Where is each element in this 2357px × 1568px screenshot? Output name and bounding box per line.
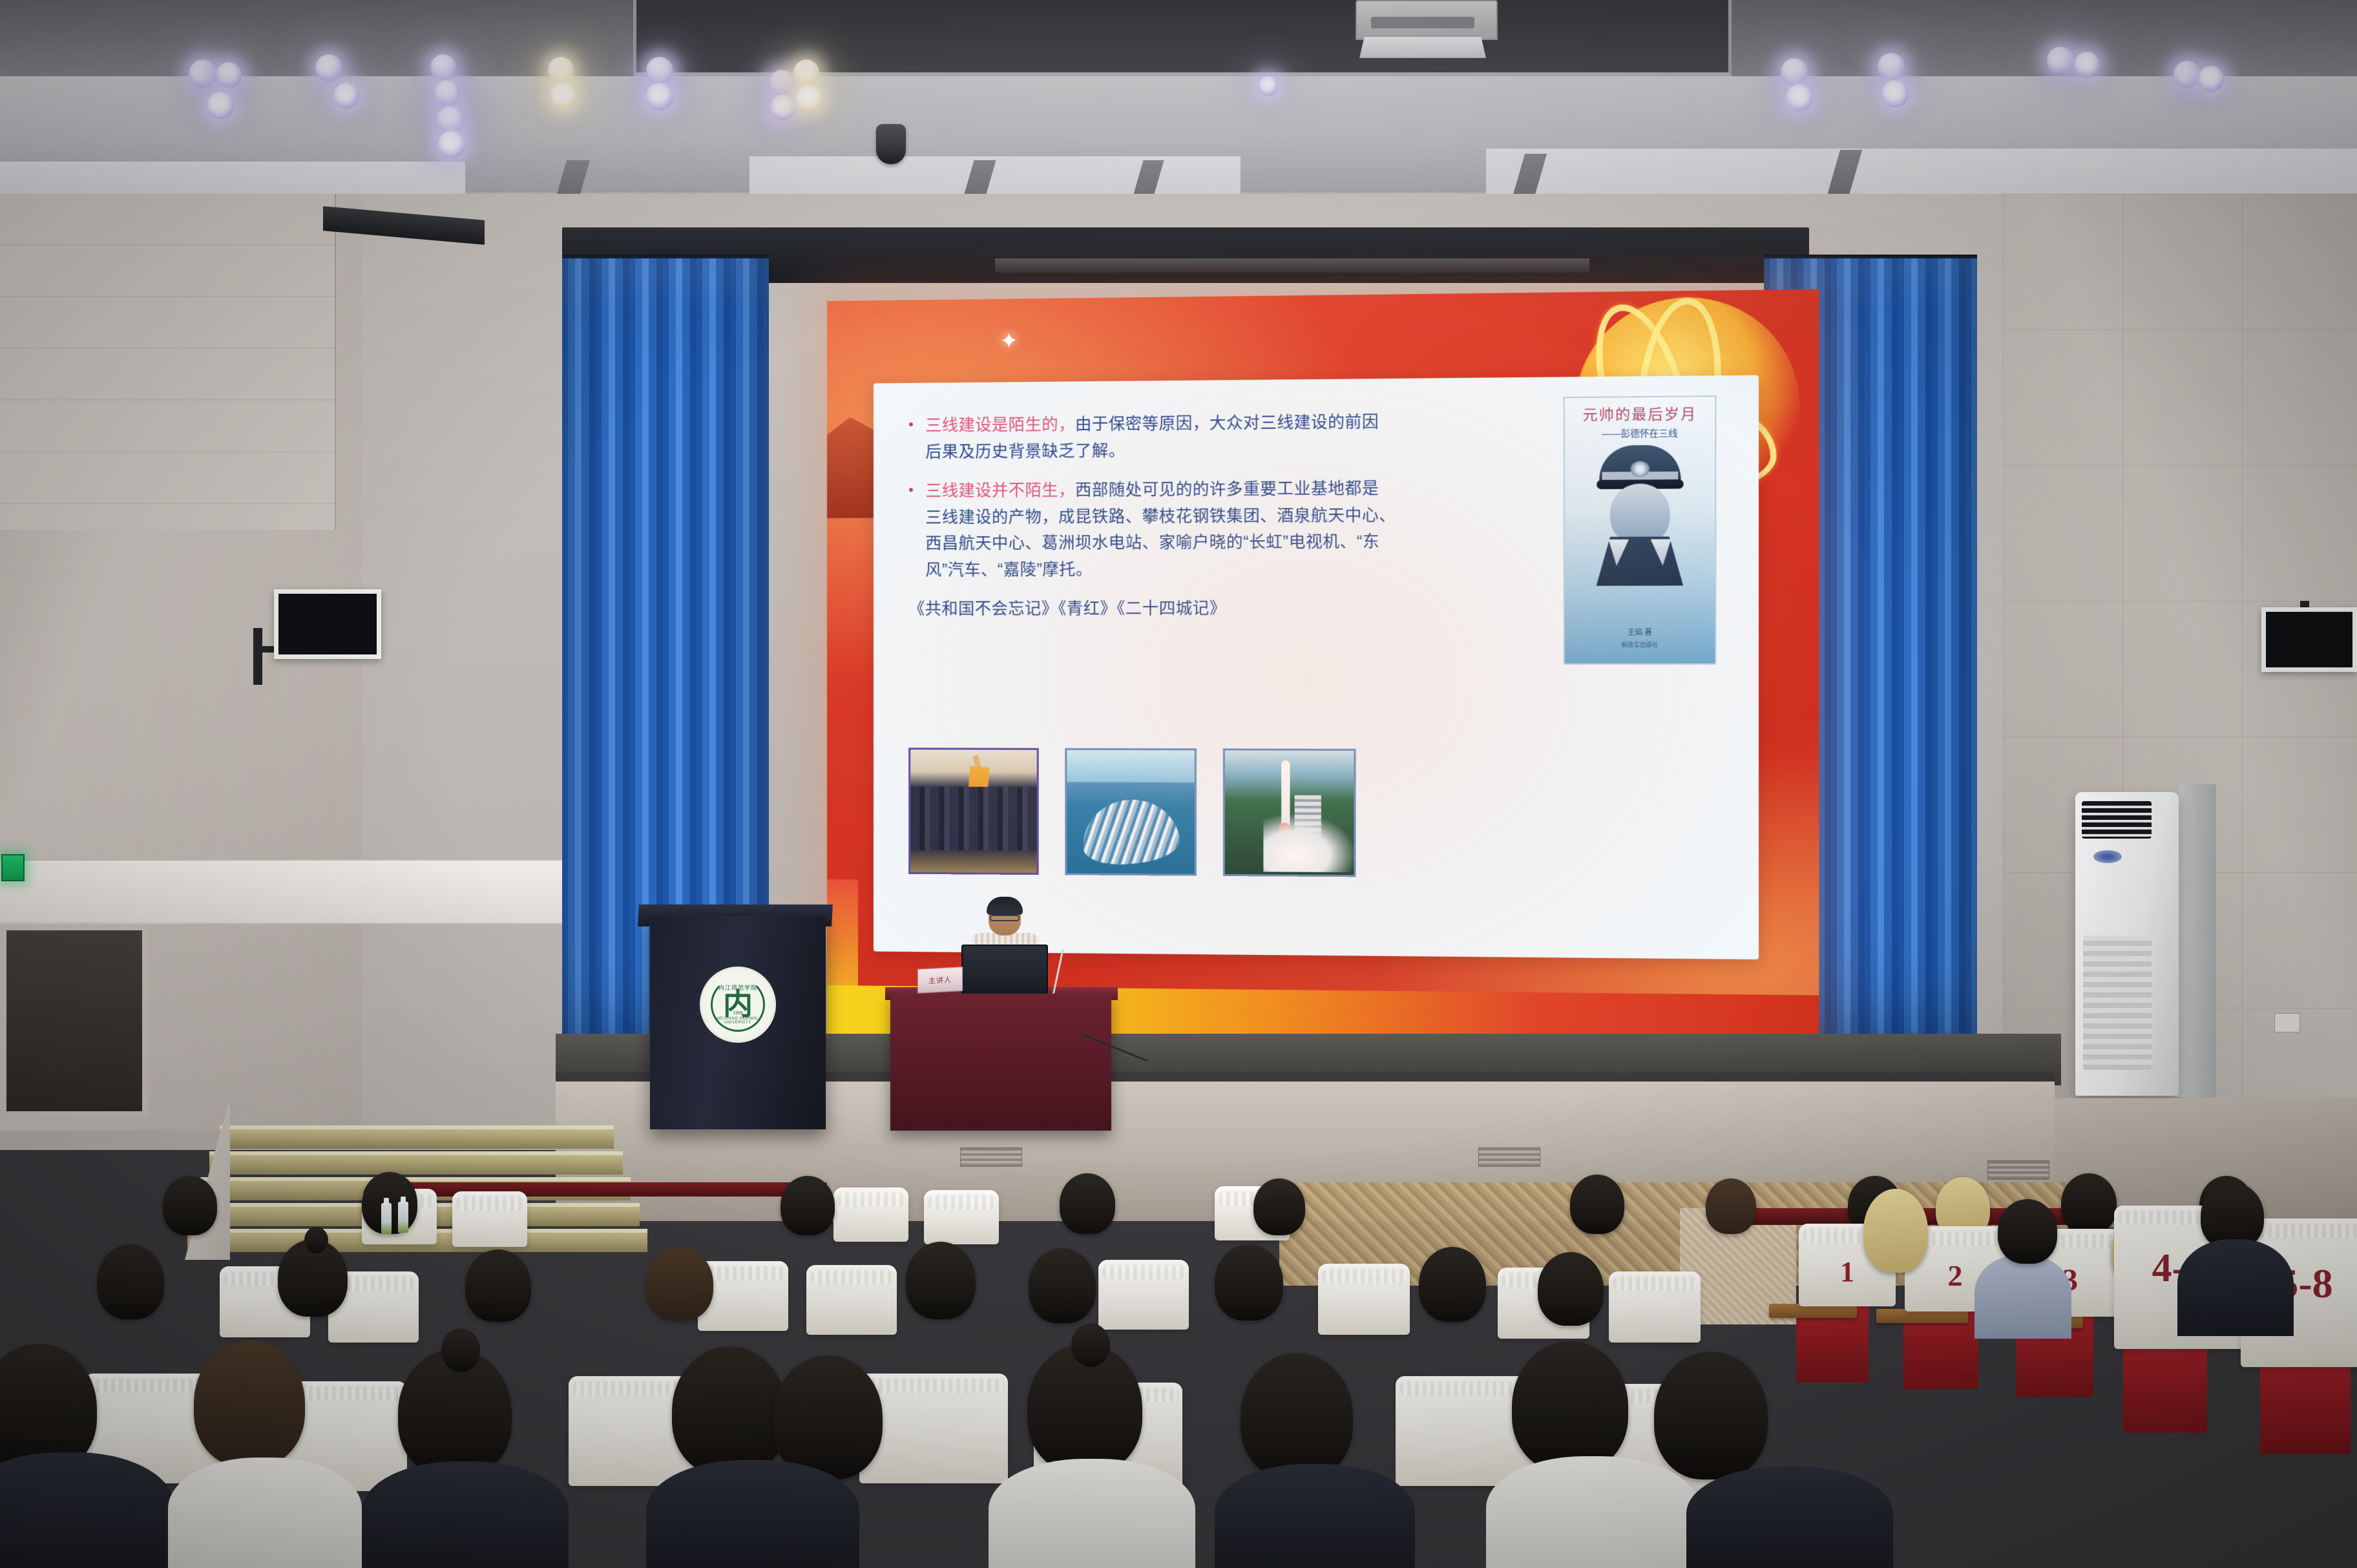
chair-pleat bbox=[1613, 1277, 1697, 1291]
projector-body bbox=[1356, 0, 1498, 40]
chair-back-4[interactable] bbox=[924, 1190, 999, 1244]
book-author: 王焰 著 bbox=[1565, 627, 1715, 638]
portrait-face bbox=[1610, 483, 1670, 545]
slide-content-card: • 三线建设是陌生的，由于保密等原因，大众对三线建设的前因后果及历史背景缺乏了解… bbox=[874, 375, 1759, 959]
left-wall-doorway-niche bbox=[0, 924, 149, 1118]
left-wall-acoustic-panels bbox=[0, 194, 336, 530]
wall-power-box bbox=[2274, 1013, 2300, 1032]
bullet-marker-2: • bbox=[908, 478, 925, 583]
downlight-15 bbox=[770, 94, 796, 120]
audience-shoulders-f5 bbox=[989, 1459, 1195, 1568]
audience-shoulders-f3 bbox=[362, 1461, 569, 1568]
portrait-uniform bbox=[1597, 536, 1684, 585]
presenter-hair bbox=[987, 897, 1023, 915]
audience-head-f5 bbox=[773, 1355, 883, 1479]
rocket-launch-photo bbox=[1223, 749, 1356, 877]
dam-structure bbox=[1079, 795, 1182, 868]
chair-pleat bbox=[1102, 1265, 1185, 1279]
presenter-laptop bbox=[961, 945, 1048, 1000]
downlight-21 bbox=[1881, 80, 1909, 107]
bullet-marker-1: • bbox=[908, 413, 925, 465]
book-portrait-figure bbox=[1595, 445, 1685, 585]
book-cover-image: 元帅的最后岁月 ——彭德怀在三线 王焰 著 解放军出版社 bbox=[1564, 395, 1717, 665]
floor-standing-air-conditioner bbox=[2075, 792, 2179, 1096]
ac-bottom-grille bbox=[2083, 936, 2152, 1070]
emergency-exit-icon bbox=[1, 854, 25, 881]
emblem-name-cn: 内江师范学院 bbox=[713, 983, 763, 992]
audience-head-f2 bbox=[194, 1340, 305, 1467]
audience-shoulders-f8 bbox=[1686, 1467, 1893, 1568]
downlight-26 bbox=[1259, 76, 1278, 96]
emblem-year: 1956 bbox=[713, 1011, 763, 1016]
speaker-nameplate: 主讲人 bbox=[917, 967, 963, 994]
audience-head-m9 bbox=[1538, 1252, 1604, 1326]
audience-head-m4 bbox=[646, 1247, 713, 1321]
audience-head-b3 bbox=[780, 1176, 835, 1235]
chair-mid-8[interactable] bbox=[1609, 1271, 1701, 1343]
chair-pleat bbox=[837, 1193, 905, 1207]
downlight-12 bbox=[646, 57, 673, 84]
audience-head-f3 bbox=[398, 1349, 512, 1477]
ceiling-security-camera-icon bbox=[876, 124, 906, 164]
chair-pleat bbox=[928, 1195, 995, 1209]
downlight-4 bbox=[315, 54, 342, 81]
audience-head-b5 bbox=[1253, 1178, 1305, 1235]
bullet-highlight-1: 三线建设是陌生的， bbox=[925, 415, 1075, 435]
downlight-7 bbox=[437, 106, 464, 133]
ceiling-projector bbox=[1331, 0, 1518, 71]
presenter-glasses-icon bbox=[990, 915, 1020, 921]
audience-shoulders-f1 bbox=[0, 1452, 174, 1568]
bullet-highlight-2: 三线建设并不陌生， bbox=[925, 481, 1075, 500]
chair-mid-6[interactable] bbox=[1318, 1264, 1410, 1335]
downlight-23 bbox=[2074, 52, 2100, 78]
slide-bullet-1: • 三线建设是陌生的，由于保密等原因，大众对三线建设的前因后果及历史背景缺乏了解… bbox=[908, 409, 1396, 465]
water-bottle-2[interactable] bbox=[398, 1202, 408, 1233]
audience-head-m1 bbox=[97, 1244, 164, 1319]
audience-shoulders-right-2 bbox=[2177, 1239, 2294, 1336]
audience-head-m3 bbox=[465, 1249, 531, 1322]
chair-pleat bbox=[456, 1197, 523, 1211]
emblem-ring: 内江师范学院 内 1956 NEIJIANG NORMAL UNIVERSITY bbox=[711, 977, 765, 1032]
downlight-17 bbox=[796, 85, 822, 111]
audience-head-m5 bbox=[906, 1242, 976, 1319]
wall-mounted-speaker-icon bbox=[274, 589, 381, 659]
audience-shoulders-right-1 bbox=[1975, 1255, 2071, 1339]
projector-vent bbox=[1371, 17, 1474, 28]
downlight-11 bbox=[550, 83, 576, 109]
downlight-5 bbox=[430, 54, 456, 80]
university-emblem-icon: 内江师范学院 内 1956 NEIJIANG NORMAL UNIVERSITY bbox=[700, 967, 776, 1043]
audience-head-b4 bbox=[1060, 1173, 1115, 1234]
stage-step-1 bbox=[220, 1125, 614, 1149]
audience-head-m6 bbox=[1029, 1248, 1096, 1323]
audience-head-b6 bbox=[1570, 1175, 1624, 1234]
ac-brand-logo-icon bbox=[2093, 850, 2122, 863]
downlight-6 bbox=[434, 80, 460, 106]
downlight-14 bbox=[769, 70, 795, 96]
wall-mounted-speaker-right-icon bbox=[2261, 607, 2357, 672]
book-subtitle: ——彭德怀在三线 bbox=[1565, 426, 1715, 440]
slide-photo-row bbox=[908, 747, 1356, 877]
book-publisher: 解放军出版社 bbox=[1565, 640, 1715, 649]
crowd-row bbox=[910, 786, 1037, 851]
downlight-24 bbox=[2174, 61, 2201, 88]
audience-head-f4 bbox=[672, 1346, 787, 1476]
chair-back-3[interactable] bbox=[833, 1187, 908, 1242]
projector-lens-plate bbox=[1359, 36, 1486, 58]
downlight-20 bbox=[1878, 53, 1905, 80]
audience-head-m8 bbox=[1419, 1247, 1486, 1322]
audience-shoulders-f2 bbox=[168, 1458, 362, 1568]
slide-bullet-2: • 三线建设并不陌生，西部随处可见的的许多重要工业基地都是三线建设的产物，成昆铁… bbox=[908, 476, 1396, 583]
slide-body-text: • 三线建设是陌生的，由于保密等原因，大众对三线建设的前因后果及历史背景缺乏了解… bbox=[908, 409, 1396, 623]
stage-step-2 bbox=[209, 1151, 623, 1175]
stage-vent-3 bbox=[1987, 1160, 2049, 1180]
seat-base-r4 bbox=[2123, 1343, 2207, 1433]
downlight-2 bbox=[216, 62, 242, 88]
audience-head-f9 bbox=[1654, 1352, 1768, 1479]
downlight-16 bbox=[793, 59, 819, 85]
downlight-8 bbox=[438, 131, 465, 158]
seat-base-r5 bbox=[2260, 1357, 2351, 1454]
audience-shoulders-f6 bbox=[1215, 1464, 1415, 1568]
audience-shoulders-f7 bbox=[1486, 1456, 1699, 1568]
audience-head-b1 bbox=[163, 1176, 217, 1235]
bullet-text-1: 三线建设是陌生的，由于保密等原因，大众对三线建设的前因后果及历史背景缺乏了解。 bbox=[925, 409, 1396, 465]
ac-top-grille bbox=[2082, 801, 2152, 839]
slide-references: 《共和国不会忘记》《青红》《二十四城记》 bbox=[908, 595, 1396, 622]
slide-star-icon-1: ✦ bbox=[1000, 330, 1018, 353]
downlight-1 bbox=[189, 59, 217, 88]
chair-mid-5[interactable] bbox=[1098, 1260, 1189, 1330]
audience-head-blonde-right bbox=[1863, 1189, 1928, 1273]
downlight-18 bbox=[1781, 58, 1808, 85]
chair-pleat bbox=[810, 1270, 893, 1284]
downlight-3 bbox=[207, 92, 234, 119]
book-author-block: 王焰 著 解放军出版社 bbox=[1565, 627, 1715, 649]
chair-mid-4[interactable] bbox=[806, 1265, 897, 1335]
speaker-table bbox=[890, 994, 1111, 1131]
downlight-10 bbox=[548, 57, 574, 83]
chair-pleat bbox=[1322, 1269, 1406, 1283]
wall-speaker-post bbox=[253, 628, 262, 685]
stage-vent-2 bbox=[1478, 1147, 1540, 1167]
stage-vent-1 bbox=[960, 1147, 1022, 1167]
emblem-name-en: NEIJIANG NORMAL UNIVERSITY bbox=[713, 1017, 763, 1025]
bullet-text-2: 三线建设并不陌生，西部随处可见的的许多重要工业基地都是三线建设的产物，成昆铁路、… bbox=[925, 476, 1396, 583]
audience-head-m2 bbox=[278, 1239, 348, 1317]
water-bottle-1[interactable] bbox=[381, 1203, 392, 1234]
audience-head-f6 bbox=[1027, 1344, 1142, 1473]
lectern-podium: 内江师范学院 内 1956 NEIJIANG NORMAL UNIVERSITY bbox=[650, 916, 826, 1129]
book-title: 元帅的最后岁月 bbox=[1565, 402, 1715, 424]
left-wall-stone-band bbox=[0, 859, 646, 924]
audience-shoulders-f4 bbox=[646, 1460, 859, 1568]
crowd-ceremony-photo bbox=[908, 747, 1039, 875]
ac-unit-side bbox=[2179, 784, 2216, 1097]
audience-head-right-2 bbox=[1998, 1199, 2057, 1264]
audience-head-b10 bbox=[2061, 1173, 2117, 1234]
chair-pleat bbox=[702, 1266, 784, 1281]
chair-pleat bbox=[863, 1379, 1004, 1393]
audience-head-f7 bbox=[1241, 1353, 1353, 1479]
downlight-25 bbox=[2198, 66, 2224, 92]
photo-sky bbox=[1067, 750, 1195, 782]
downlight-9 bbox=[333, 83, 359, 109]
exhaust-plume bbox=[1264, 815, 1354, 872]
downlight-13 bbox=[646, 83, 673, 110]
downlight-22 bbox=[2047, 47, 2074, 74]
chair-back-2[interactable] bbox=[452, 1191, 527, 1247]
auditorium-scene: ✦ ✦ • 三线建设是陌生的，由于保密等原因，大众对三线建设的前因后果及历史背景… bbox=[0, 0, 2357, 1568]
audience-head-f8 bbox=[1512, 1341, 1628, 1472]
downlight-19 bbox=[1786, 84, 1813, 111]
audience-seating: 1 2 3 4-8 5-8 bbox=[0, 1182, 2357, 1568]
dam-aerial-photo bbox=[1065, 748, 1197, 876]
audience-head-b7 bbox=[1706, 1178, 1756, 1234]
audience-head-m7 bbox=[1215, 1244, 1283, 1321]
proscenium-valance bbox=[995, 258, 1589, 273]
portrait-cap-emblem-icon bbox=[1630, 461, 1649, 477]
